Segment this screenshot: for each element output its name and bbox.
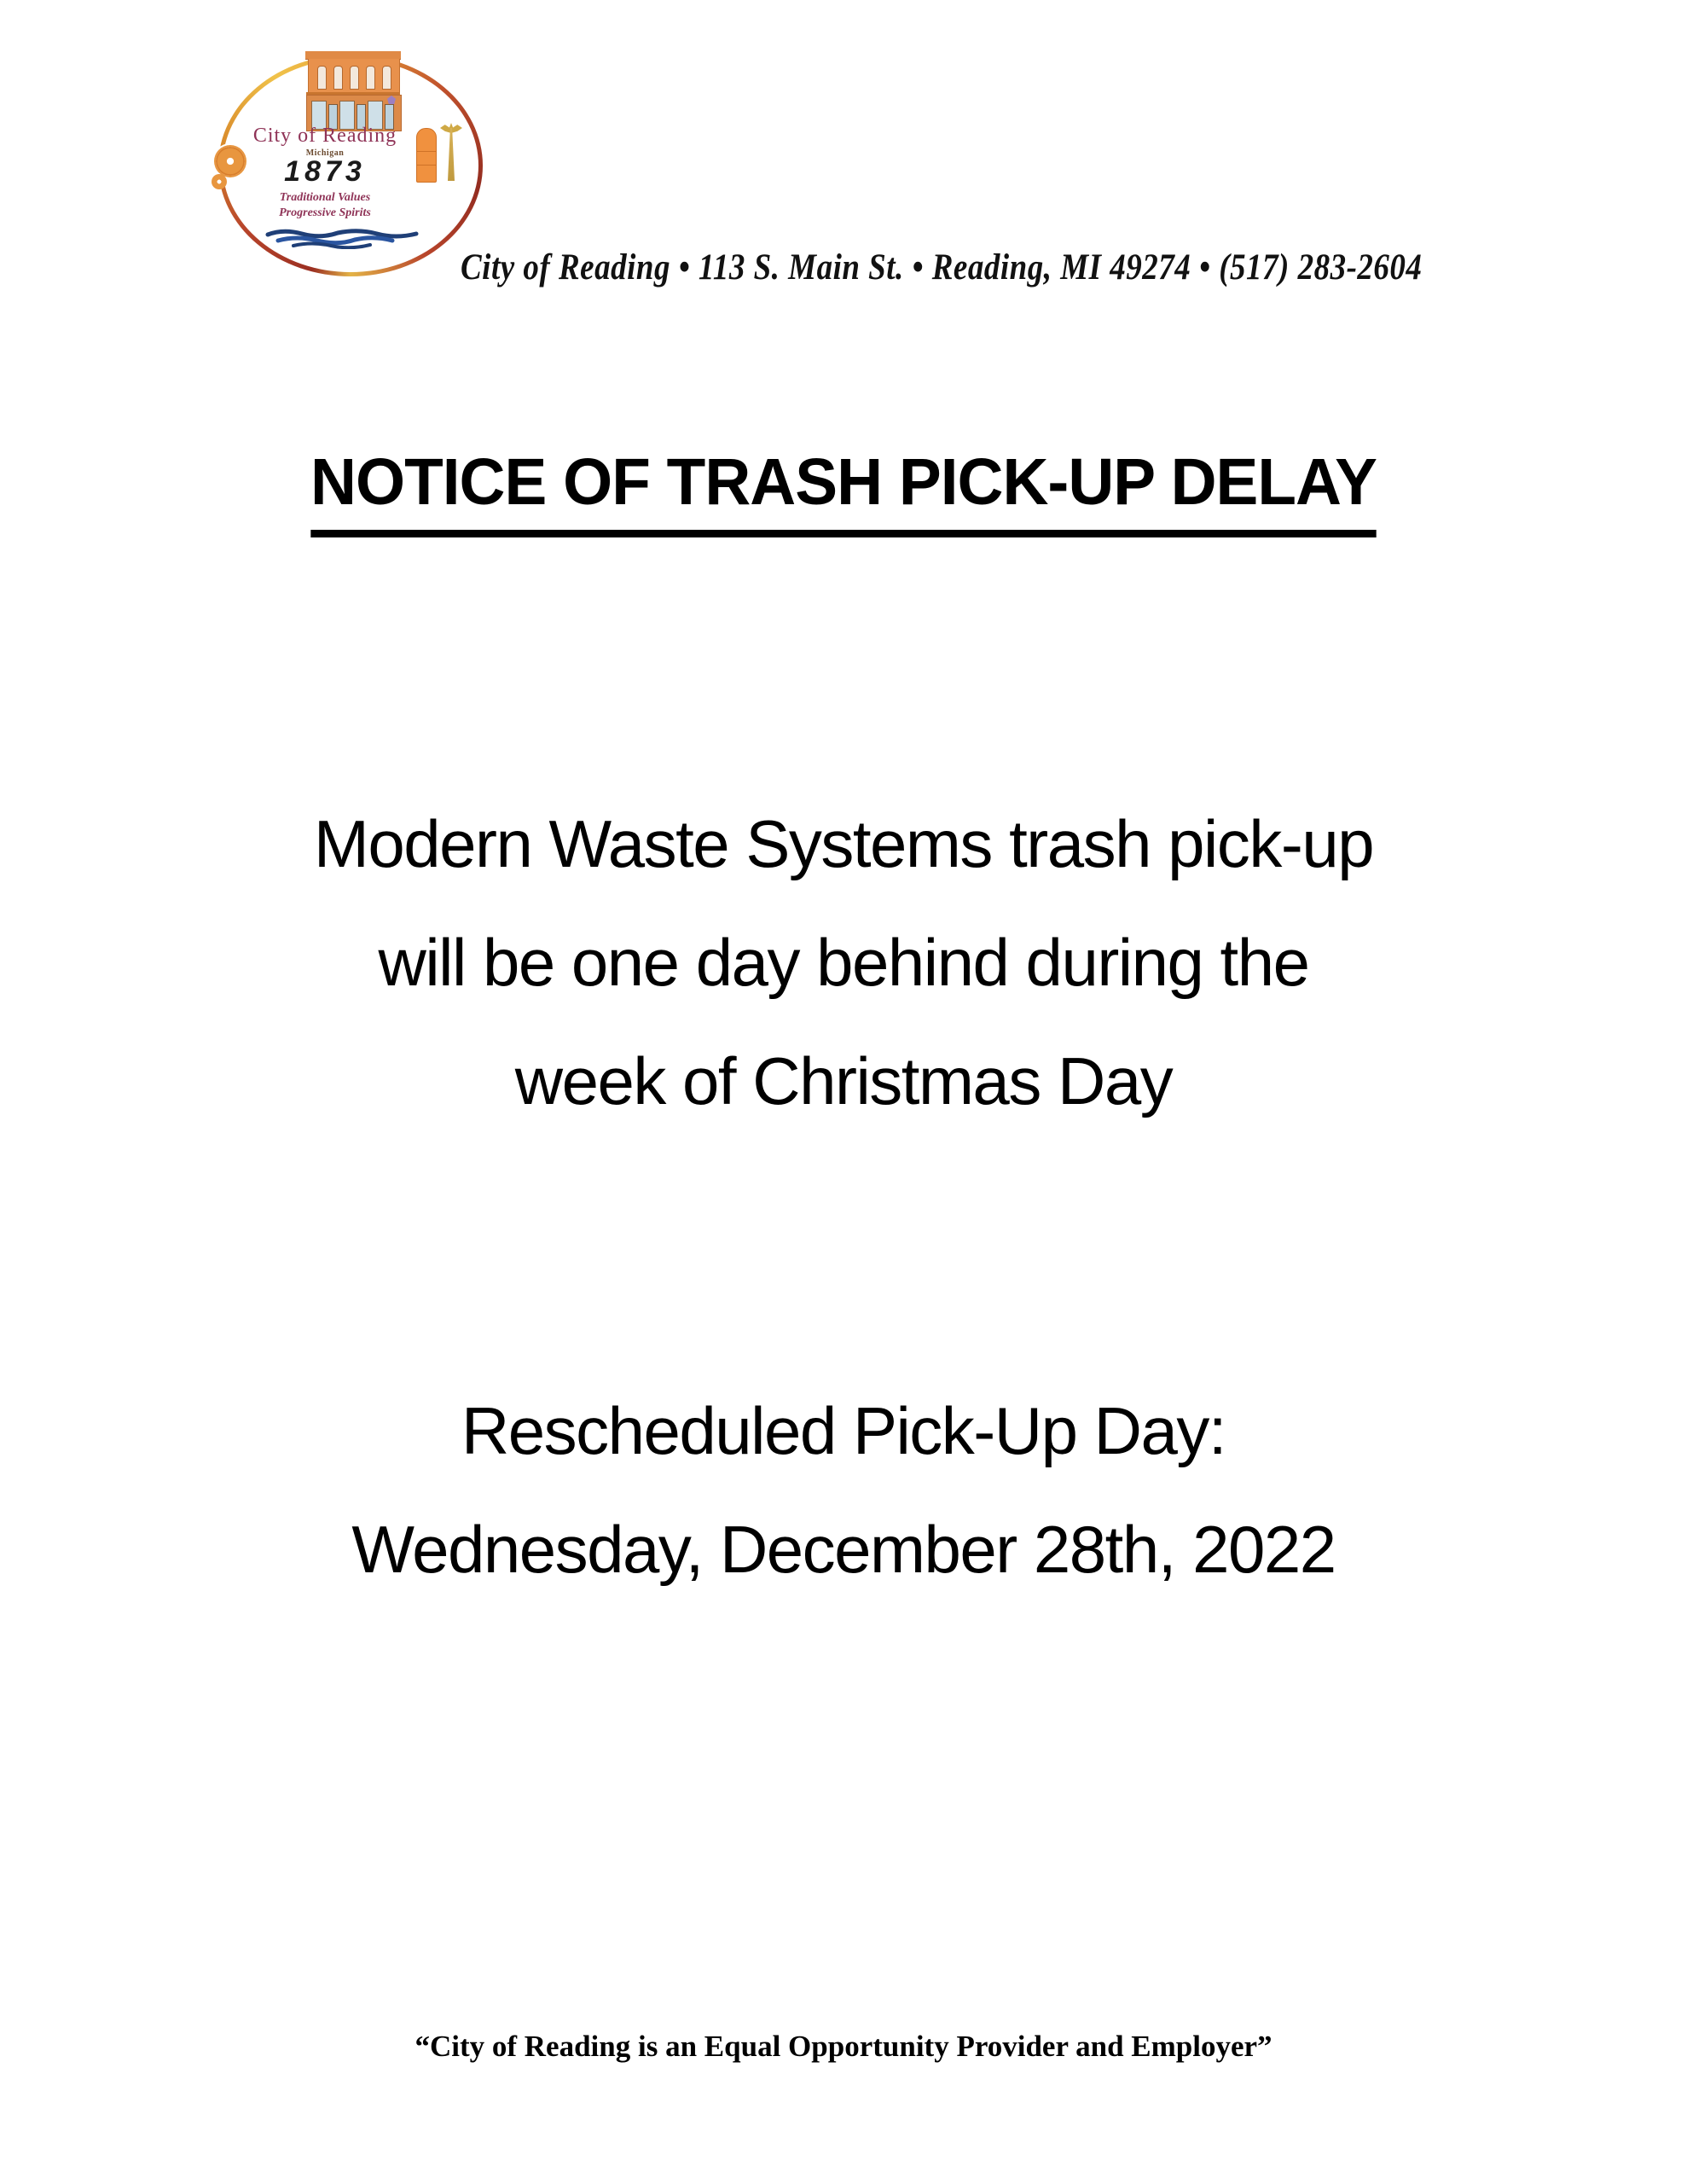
notice-body-line: week of Christmas Day	[0, 1022, 1687, 1141]
equal-opportunity-footer: “City of Reading is an Equal Opportunity…	[0, 2030, 1687, 2064]
rescheduled-pickup-label: Rescheduled Pick-Up Day:	[0, 1372, 1687, 1490]
notice-body-line: Modern Waste Systems trash pick-up	[0, 785, 1687, 903]
water-waves-icon	[264, 227, 428, 249]
seal-city-name: City of Reading	[212, 125, 438, 148]
letterhead: City of Reading Michigan 1873 Traditiona…	[0, 39, 1687, 295]
rescheduled-pickup-section: Rescheduled Pick-Up Day: Wednesday, Dece…	[0, 1372, 1687, 1609]
notice-body: Modern Waste Systems trash pick-up will …	[0, 785, 1687, 1141]
city-seal-logo: City of Reading Michigan 1873 Traditiona…	[212, 46, 484, 293]
seal-motto-line-2: Progressive Spirits	[212, 206, 438, 220]
seal-motto-line-1: Traditional Values	[212, 191, 438, 205]
rescheduled-pickup-date: Wednesday, December 28th, 2022	[0, 1490, 1687, 1609]
seal-founding-year: 1873	[212, 155, 438, 189]
bell-tower-icon	[440, 119, 462, 184]
historic-building-icon	[305, 51, 401, 130]
letterhead-contact-line: City of Reading • 113 S. Main St. • Read…	[461, 246, 1422, 289]
notice-body-line: will be one day behind during the	[0, 903, 1687, 1022]
page-title: NOTICE OF TRASH PICK-UP DELAY	[26, 444, 1662, 537]
notice-page: City of Reading Michigan 1873 Traditiona…	[0, 0, 1687, 2184]
page-title-text: NOTICE OF TRASH PICK-UP DELAY	[310, 447, 1377, 537]
